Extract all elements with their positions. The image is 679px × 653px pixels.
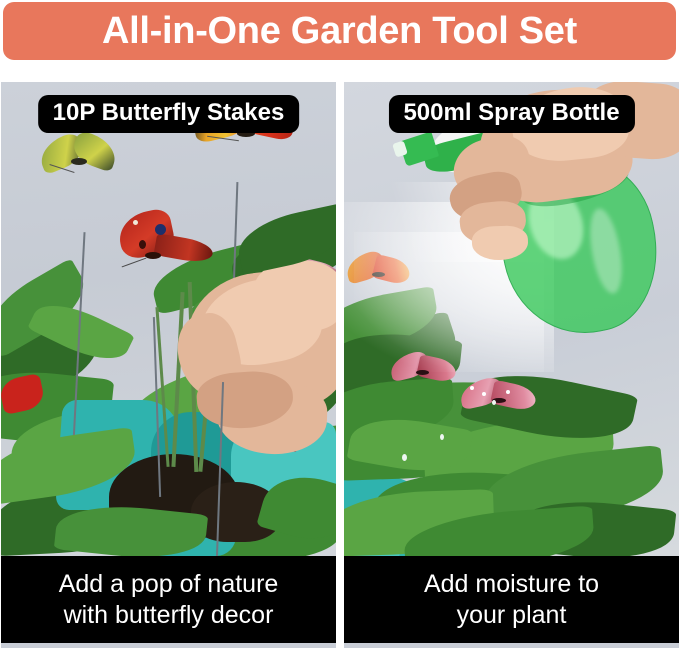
butterfly-antenna: [122, 258, 147, 268]
caption-spray-bottle: Add moisture to your plant: [344, 556, 679, 643]
butterfly-wing: [372, 254, 413, 286]
butterfly-stake-red: [119, 212, 211, 274]
butterfly-spot: [482, 392, 486, 396]
butterfly-body: [372, 272, 385, 277]
butterfly-pink-small: [390, 352, 456, 388]
butterfly-body: [416, 370, 429, 375]
butterfly-spot: [133, 220, 138, 225]
caption-line-2: your plant: [424, 600, 599, 631]
panel-spray-bottle: 500ml Spray Bottle Add moisture to your …: [344, 82, 679, 648]
panel-badge-spray-bottle: 500ml Spray Bottle: [388, 95, 634, 133]
page-title: All-in-One Garden Tool Set: [102, 12, 577, 50]
butterfly-wing: [416, 354, 458, 383]
water-droplet: [402, 454, 407, 461]
photo-butterfly-stakes: [1, 82, 336, 556]
butterfly-spot: [470, 386, 474, 390]
caption-line-2: with butterfly decor: [59, 600, 279, 631]
butterfly-wing: [69, 129, 121, 172]
panel-butterfly-stakes: 10P Butterfly Stakes Add a pop of nature…: [1, 82, 336, 648]
badge-label: 500ml Spray Bottle: [403, 99, 619, 126]
butterfly-pink-spotted: [460, 378, 536, 418]
butterfly-wing: [490, 380, 538, 413]
panels-row: 10P Butterfly Stakes Add a pop of nature…: [0, 82, 679, 648]
butterfly-body: [145, 252, 161, 259]
water-droplet: [440, 434, 444, 440]
caption-line-1: Add a pop of nature: [59, 569, 279, 600]
caption-line-1: Add moisture to: [424, 569, 599, 600]
caption-text: Add a pop of nature with butterfly decor: [59, 569, 279, 630]
caption-text: Add moisture to your plant: [424, 569, 599, 630]
butterfly-spot: [139, 240, 146, 249]
caption-butterfly-stakes: Add a pop of nature with butterfly decor: [1, 556, 336, 643]
butterfly-wing: [154, 233, 215, 265]
badge-label: 10P Butterfly Stakes: [53, 99, 285, 126]
butterfly-body: [71, 158, 87, 165]
butterfly-orange-small: [346, 252, 410, 292]
product-image-page: All-in-One Garden Tool Set: [0, 0, 679, 653]
photo-spray-bottle: [344, 82, 679, 556]
butterfly-eyespot: [155, 224, 166, 235]
water-droplet: [492, 400, 496, 405]
butterfly-spot: [506, 390, 510, 394]
butterfly-stake-yellow: [39, 134, 117, 182]
header-banner: All-in-One Garden Tool Set: [3, 2, 676, 60]
panel-badge-butterfly-stakes: 10P Butterfly Stakes: [38, 95, 300, 133]
